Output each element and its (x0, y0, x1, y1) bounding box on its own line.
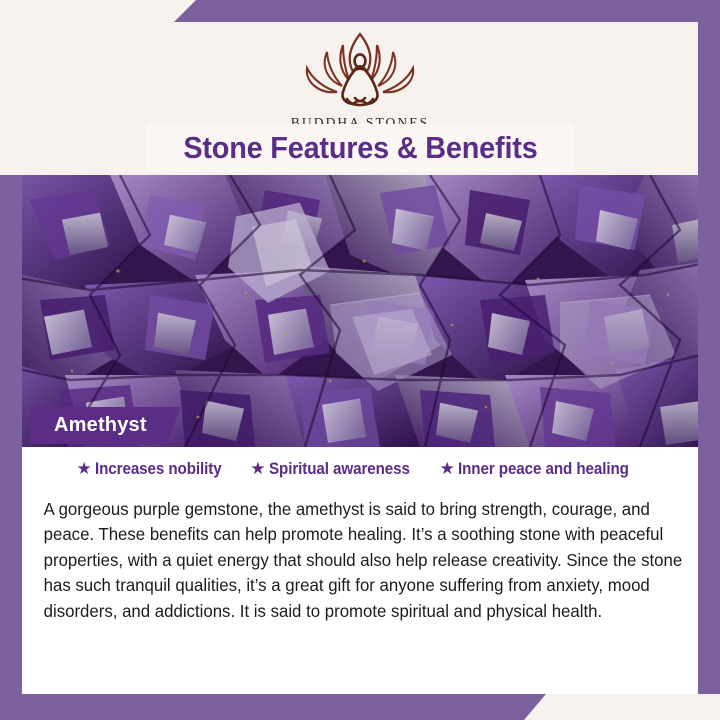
page-title-banner: Stone Features & Benefits (146, 124, 574, 172)
benefits-list: ★ Increases nobility ★ Spiritual awarene… (36, 460, 684, 479)
stone-name: Amethyst (54, 414, 147, 437)
lotus-meditation-icon (285, 28, 435, 114)
benefit-label-2: Spiritual awareness (269, 460, 410, 479)
benefit-label-3: Inner peace and healing (458, 460, 629, 479)
amethyst-crystal-cluster-image (0, 175, 720, 447)
frame-bottom-bar (0, 694, 720, 720)
benefit-item-2: ★ Spiritual awareness (250, 460, 421, 479)
benefit-item-1: ★ Increases nobility (76, 460, 232, 479)
star-icon: ★ (250, 460, 265, 477)
star-icon: ★ (440, 460, 455, 477)
brand-logo: BUDDHA STONES (265, 28, 455, 131)
frame-left-bar (0, 175, 22, 694)
star-icon: ★ (76, 460, 91, 477)
infographic-page: BUDDHA STONES (0, 0, 720, 720)
benefit-item-3: ★ Inner peace and healing (440, 460, 644, 479)
frame-right-bar (698, 18, 720, 694)
stone-name-badge: Amethyst (30, 407, 181, 444)
stone-description: A gorgeous purple gemstone, the amethyst… (36, 497, 693, 625)
benefit-label-1: Increases nobility (95, 460, 222, 479)
hero-image (0, 175, 720, 447)
content-card: ★ Increases nobility ★ Spiritual awarene… (22, 447, 698, 694)
page-title: Stone Features & Benefits (183, 130, 537, 166)
frame-top-bar (0, 0, 720, 22)
